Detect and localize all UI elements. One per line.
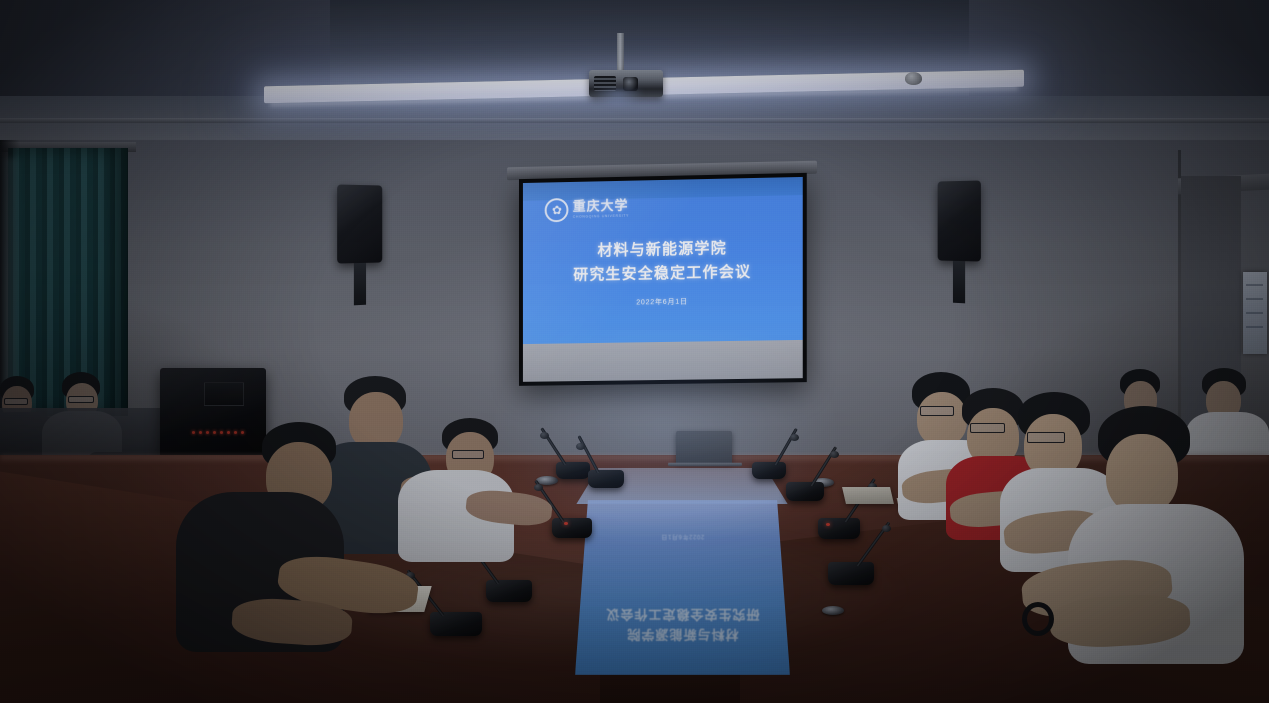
microphone-right-1 [752,462,786,479]
presentation-slide: ✿ 重庆大学 CHONGQING UNIVERSITY 材料与新能源学院 研究生… [523,177,803,344]
projector-beam-glow [592,90,644,108]
microphone-left-5 [430,612,482,636]
ceiling-sensor-icon [905,72,922,85]
av-rack-panel [204,382,244,406]
av-rack-indicator-leds [192,431,244,434]
meeting-room-photo: ✿ 重庆大学 CHONGQING UNIVERSITY 材料与新能源学院 研究生… [0,0,1269,703]
wall-notice-board [1243,272,1267,354]
slide-date: 2022年6月1日 [523,294,803,309]
projection-screen: ✿ 重庆大学 CHONGQING UNIVERSITY 材料与新能源学院 研究生… [519,173,807,386]
table-slide-reflection [575,500,790,675]
notebook-right-1 [842,487,894,504]
laptop-keyboard [668,463,743,467]
laptop-icon [676,431,732,463]
microphone-left-4 [486,580,532,602]
wall-speaker-left-icon [337,184,382,263]
microphone-right-4 [828,562,874,585]
projector-vents [594,76,616,91]
av-equipment-rack [160,368,266,458]
university-logo: ✿ 重庆大学 CHONGQING UNIVERSITY [545,197,629,223]
projector-mount-pole [617,33,624,73]
microphone-left-1 [556,462,590,479]
university-name-en: CHONGQING UNIVERSITY [573,215,629,220]
screen-blank-area [523,340,803,382]
microphone-left-2 [588,470,624,488]
table-cable-grommet-3 [822,606,844,615]
wall-speaker-right-icon [938,180,981,261]
microphone-right-3 [818,518,860,539]
microphone-left-3 [552,518,592,538]
projection-screen-surface: ✿ 重庆大学 CHONGQING UNIVERSITY 材料与新能源学院 研究生… [523,177,803,382]
university-name-cn: 重庆大学 [573,200,629,214]
slide-top-band [523,177,803,201]
microphone-right-2 [786,482,824,501]
wrist-bracelet [1022,602,1054,636]
projector-lens [623,77,638,91]
slide-title-line2: 研究生安全稳定工作会议 [523,259,803,287]
slide-title: 材料与新能源学院 研究生安全稳定工作会议 [523,236,803,288]
university-logo-mark-icon: ✿ [545,198,569,222]
ceiling-soffit-edge [0,118,1269,123]
